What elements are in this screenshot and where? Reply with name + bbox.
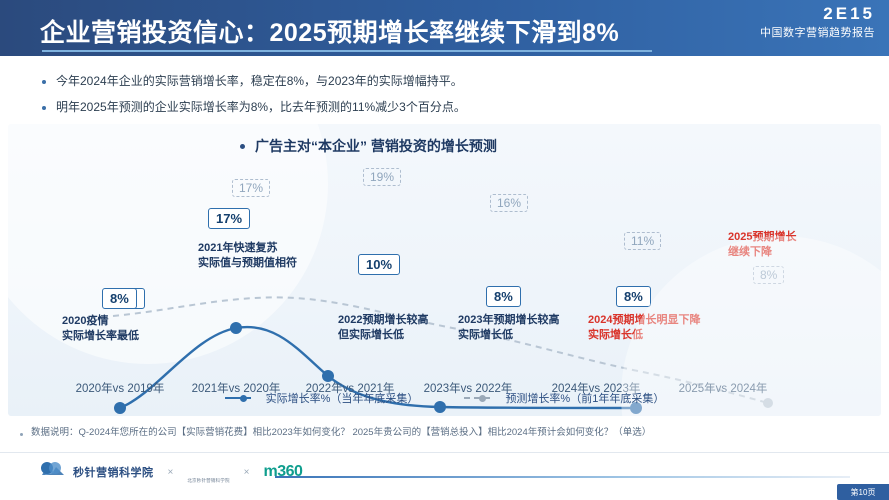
legend-label: 预测增长率%（前1年年底采集） — [505, 390, 664, 406]
annotation-line: 实际值与预期值相符 — [198, 256, 297, 271]
annotation-2024: 2024预期增长明显下降 实际增长低 — [588, 313, 700, 343]
brand-block: 2Ε15 中国数字营销趋势报告 — [760, 5, 875, 40]
annotation-2023: 2023年预期增长较高 实际增长低 — [458, 313, 559, 343]
bullet-dot-icon — [42, 106, 46, 110]
annotation-line: 但实际增长低 — [338, 328, 428, 343]
forecast-label-2025: 8% — [753, 266, 784, 284]
chart-legend: 实际增长率%（当年年底采集） 预测增长率%（前1年年底采集） — [0, 390, 889, 406]
annotation-line: 2023年预期增长较高 — [458, 313, 559, 328]
page-title: 企业营销投资信心：2025预期增长率继续下滑到8% — [40, 13, 619, 49]
annotation-2021: 2021年快速复苏 实际值与预期值相符 — [198, 241, 297, 271]
value-box-2024: 8% — [616, 286, 651, 307]
value-box-2020: 8% — [102, 288, 137, 309]
annotation-2020: 2020疫情 实际增长率最低 — [62, 314, 139, 344]
annotation-line: 2024预期增长明显下降 — [588, 313, 700, 328]
x-separator-icon: × — [244, 467, 250, 478]
list-item: 明年2025年预测的企业实际增长率为8%，比去年预测的11%减少3个百分点。 — [38, 98, 738, 117]
annotation-2022: 2022预期增长较高 但实际增长低 — [338, 313, 428, 343]
chart-svg — [8, 124, 881, 416]
legend-item-forecast: 预测增长率%（前1年年底采集） — [464, 390, 664, 406]
page-number-badge: 第10页 — [837, 484, 889, 500]
brand-year: 2Ε15 — [760, 5, 875, 23]
annotation-line: 2021年快速复苏 — [198, 241, 297, 256]
logo-secondary-label: 北京秒针营销科学院 — [187, 478, 229, 484]
annotation-line: 2020疫情 — [62, 314, 139, 329]
value-box-2021: 17% — [208, 208, 250, 229]
bullet-text: 今年2024年企业的实际营销增长率，稳定在8%，与2023年的实际增幅持平。 — [56, 72, 463, 91]
legend-line-dashed-icon — [464, 397, 490, 399]
slide-footer: 秒针营销科学院 × 北京秒针营销科学院 × m360 — [0, 455, 889, 500]
footnote: 数据说明：Q-2024年您所在的公司【实际营销花费】相比2023年如何变化？ 2… — [16, 426, 876, 440]
value-box-2023: 8% — [486, 286, 521, 307]
logo-secondary: 北京秒针营销科学院 — [187, 460, 229, 484]
bullet-dot-icon — [20, 433, 23, 436]
data-point — [230, 322, 242, 334]
shield-logo-icon — [198, 460, 220, 476]
logo-miaozhen-label: 秒针营销科学院 — [73, 464, 154, 480]
annotation-2025: 2025预期增长 继续下降 — [728, 230, 796, 260]
legend-label: 实际增长率%（当年年底采集） — [266, 390, 419, 406]
brand-subtitle: 中国数字营销趋势报告 — [760, 26, 875, 40]
chart-panel: 广告主对“本企业” 营销投资的增长预测 17% 19% 16% 11% 8% — [8, 124, 881, 416]
forecast-label-2023: 16% — [490, 194, 528, 212]
legend-marker-icon — [240, 395, 247, 402]
bullet-dot-icon — [42, 80, 46, 84]
annotation-line: 实际增长低 — [458, 328, 559, 343]
bullet-list: 今年2024年企业的实际营销增长率，稳定在8%，与2023年的实际增幅持平。 明… — [38, 72, 738, 124]
annotation-line: 实际增长率最低 — [62, 329, 139, 344]
forecast-label-2024: 11% — [624, 232, 661, 250]
list-item: 今年2024年企业的实际营销增长率，稳定在8%，与2023年的实际增幅持平。 — [38, 72, 738, 91]
legend-line-solid-icon — [225, 397, 251, 399]
annotation-line: 实际增长低 — [588, 328, 700, 343]
value-box-2022: 10% — [358, 254, 400, 275]
forecast-label-2021: 17% — [232, 179, 270, 197]
slide-header: 2Ε15 中国数字营销趋势报告 企业营销投资信心：2025预期增长率继续下滑到8… — [0, 0, 889, 56]
chart-plot-area: 17% 19% 16% 11% 8% 17% — [8, 124, 881, 416]
legend-item-actual: 实际增长率%（当年年底采集） — [225, 390, 419, 406]
annotation-line: 继续下降 — [728, 245, 796, 260]
slide: 2Ε15 中国数字营销趋势报告 企业营销投资信心：2025预期增长率继续下滑到8… — [0, 0, 889, 500]
bullet-text: 明年2025年预测的企业实际增长率为8%，比去年预测的11%减少3个百分点。 — [56, 98, 466, 117]
logo-group: 秒针营销科学院 × 北京秒针营销科学院 × m360 — [40, 460, 302, 484]
annotation-line: 2022预期增长较高 — [338, 313, 428, 328]
x-separator-icon: × — [168, 467, 174, 478]
legend-marker-icon — [479, 395, 486, 402]
footer-divider — [0, 452, 889, 453]
title-underline — [42, 50, 652, 52]
annotation-line: 2025预期增长 — [728, 230, 796, 245]
logo-m360: m360 — [264, 463, 303, 481]
footnote-text: 数据说明：Q-2024年您所在的公司【实际营销花费】相比2023年如何变化？ 2… — [31, 426, 651, 440]
footer-accent-line — [275, 476, 850, 478]
forecast-label-2022: 19% — [363, 168, 401, 186]
